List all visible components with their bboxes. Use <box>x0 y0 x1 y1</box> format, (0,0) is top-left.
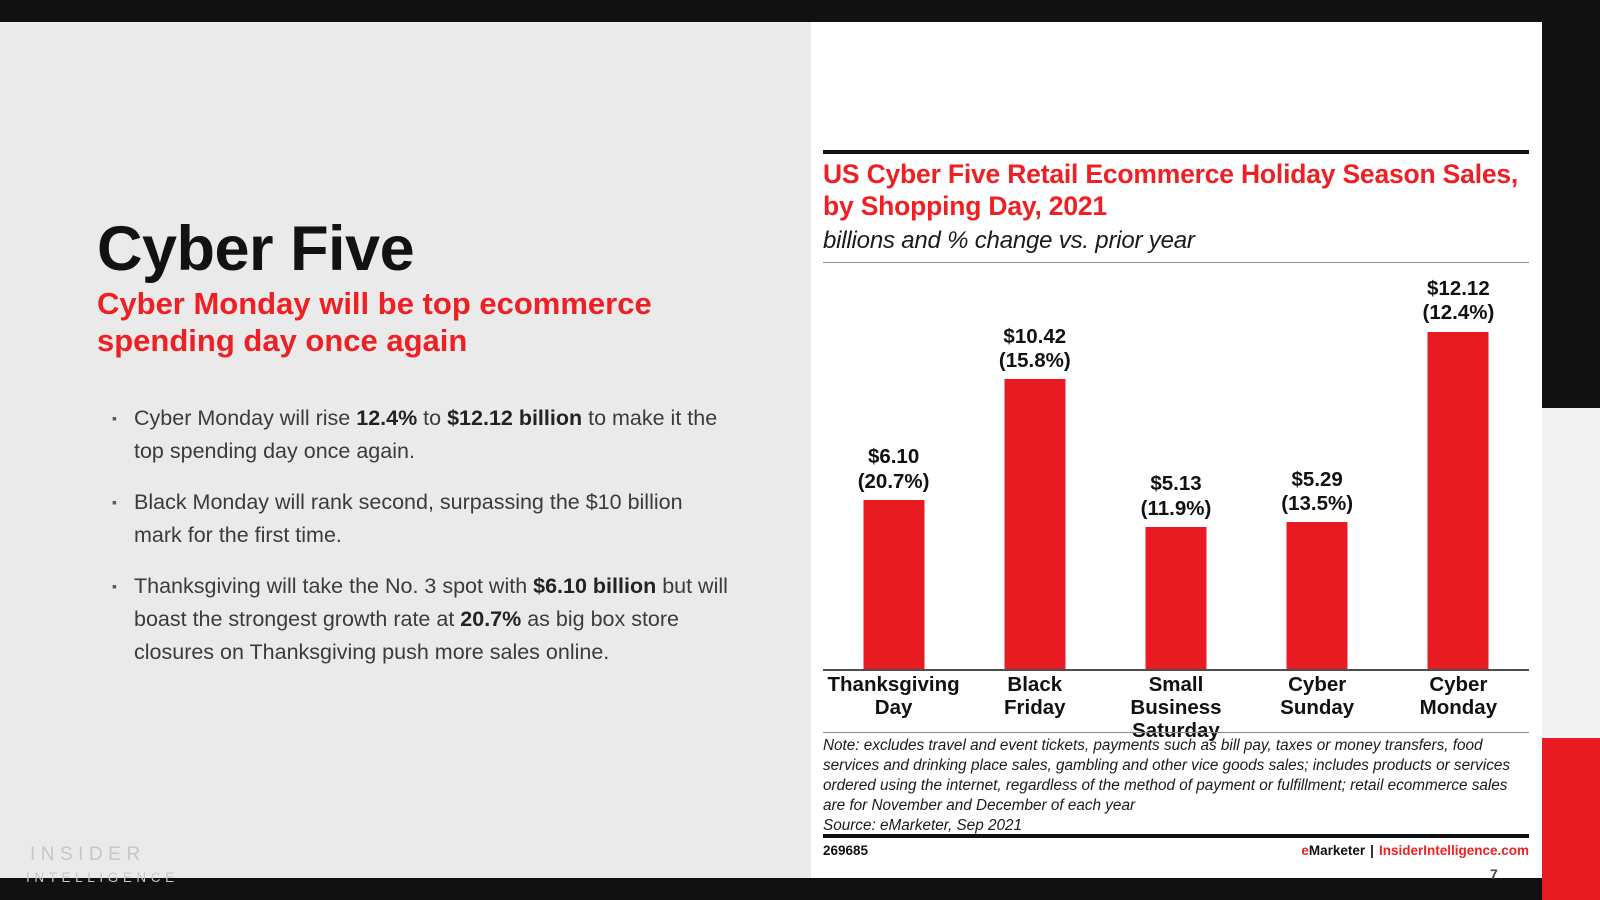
bullet-marker-icon: ▪ <box>112 486 134 519</box>
chart-footer-rule <box>823 834 1529 838</box>
bar-column: $10.42(15.8%) <box>964 268 1105 670</box>
chart-footer: 269685 eMarketer|InsiderIntelligence.com <box>823 843 1529 858</box>
page-number: 7 <box>1490 866 1498 882</box>
chart-top-rule <box>823 150 1529 154</box>
bar-value-label: $12.12(12.4%) <box>1423 277 1495 325</box>
x-axis-label-line: Monday <box>1388 697 1529 720</box>
x-axis-label: BlackFriday <box>964 674 1105 720</box>
chart-header-divider <box>823 262 1529 263</box>
bar-value: $5.13 <box>1141 472 1212 496</box>
bar-pct-change: (20.7%) <box>858 470 930 494</box>
x-axis-label-line: Thanksgiving <box>823 674 964 697</box>
x-axis-label-line: Cyber <box>1388 674 1529 697</box>
chart-source: Source: eMarketer, Sep 2021 <box>823 816 1529 836</box>
bar-value-label: $5.29(13.5%) <box>1281 468 1353 516</box>
x-axis-label-line: Small Business <box>1105 674 1246 720</box>
bar-value-label: $5.13(11.9%) <box>1141 472 1212 520</box>
bar-value: $12.12 <box>1423 277 1495 301</box>
bullet-marker-icon: ▪ <box>112 570 134 603</box>
brand-marketer: Marketer <box>1309 843 1365 858</box>
bar-pct-change: (13.5%) <box>1281 492 1353 516</box>
chart-note-text: Note: excludes travel and event tickets,… <box>823 737 1510 814</box>
insider-intelligence-logo: INSIDER INTELLIGENCE <box>30 844 179 885</box>
chart-inner: US Cyber Five Retail Ecommerce Holiday S… <box>823 22 1529 878</box>
chart-id: 269685 <box>823 843 868 858</box>
brand-url-link[interactable]: InsiderIntelligence.com <box>1379 843 1529 858</box>
x-axis-label: CyberMonday <box>1388 674 1529 720</box>
x-axis-label-line: Black <box>964 674 1105 697</box>
list-item: ▪Thanksgiving will take the No. 3 spot w… <box>112 570 732 669</box>
bar <box>1145 527 1206 670</box>
left-content-panel: Cyber Five Cyber Monday will be top ecom… <box>0 22 811 878</box>
bar-column: $5.29(13.5%) <box>1247 268 1388 670</box>
chart-subtitle: billions and % change vs. prior year <box>823 227 1195 255</box>
bar-column: $6.10(20.7%) <box>823 268 964 670</box>
brand-e: e <box>1301 843 1309 858</box>
bar-value: $10.42 <box>999 325 1071 349</box>
bullet-marker-icon: ▪ <box>112 402 134 435</box>
bar-pct-change: (15.8%) <box>999 349 1071 373</box>
x-axis-label-line: Sunday <box>1247 697 1388 720</box>
right-edge-red-block <box>1542 738 1600 900</box>
bar <box>1428 332 1489 670</box>
x-axis-label: CyberSunday <box>1247 674 1388 720</box>
page-title: Cyber Five <box>97 218 414 281</box>
slide: Cyber Five Cyber Monday will be top ecom… <box>0 0 1600 900</box>
list-item-text: Thanksgiving will take the No. 3 spot wi… <box>134 570 732 669</box>
brand-separator: | <box>1370 843 1374 858</box>
x-axis-label-line: Cyber <box>1247 674 1388 697</box>
bar-chart-plot: $6.10(20.7%)$10.42(15.8%)$5.13(11.9%)$5.… <box>823 268 1529 670</box>
x-axis-label: ThanksgivingDay <box>823 674 964 720</box>
bar-value: $5.29 <box>1281 468 1353 492</box>
chart-note-divider <box>823 732 1529 733</box>
chart-panel: US Cyber Five Retail Ecommerce Holiday S… <box>811 22 1542 878</box>
list-item: ▪Cyber Monday will rise 12.4% to $12.12 … <box>112 402 732 468</box>
chart-title: US Cyber Five Retail Ecommerce Holiday S… <box>823 158 1523 223</box>
page-subtitle: Cyber Monday will be top ecommerce spend… <box>97 286 707 359</box>
top-dark-band <box>0 0 1600 22</box>
bar <box>1287 522 1348 670</box>
bullet-list: ▪Cyber Monday will rise 12.4% to $12.12 … <box>112 402 732 687</box>
bar <box>863 500 924 670</box>
bar-pct-change: (12.4%) <box>1423 301 1495 325</box>
bar-pct-change: (11.9%) <box>1141 497 1212 521</box>
x-axis-label-line: Friday <box>964 697 1105 720</box>
bar-value: $6.10 <box>858 445 930 469</box>
x-axis-category-labels: ThanksgivingDayBlackFridaySmall Business… <box>823 674 1529 732</box>
right-edge-dark-block <box>1542 0 1600 408</box>
bar-value-label: $6.10(20.7%) <box>858 445 930 493</box>
bar-value-label: $10.42(15.8%) <box>999 325 1071 373</box>
list-item-text: Cyber Monday will rise 12.4% to $12.12 b… <box>134 402 732 468</box>
logo-line-intelligence: INTELLIGENCE <box>26 870 179 885</box>
right-edge-light-block <box>1542 408 1600 738</box>
bar <box>1004 379 1065 670</box>
x-axis-label-line: Day <box>823 697 964 720</box>
x-axis-line <box>823 669 1529 671</box>
brand-attribution: eMarketer|InsiderIntelligence.com <box>1301 843 1529 858</box>
logo-line-insider: INSIDER <box>30 844 179 866</box>
bar-column: $5.13(11.9%) <box>1105 268 1246 670</box>
list-item: ▪Black Monday will rank second, surpassi… <box>112 486 732 552</box>
chart-note: Note: excludes travel and event tickets,… <box>823 736 1529 835</box>
list-item-text: Black Monday will rank second, surpassin… <box>134 486 732 552</box>
bar-column: $12.12(12.4%) <box>1388 268 1529 670</box>
